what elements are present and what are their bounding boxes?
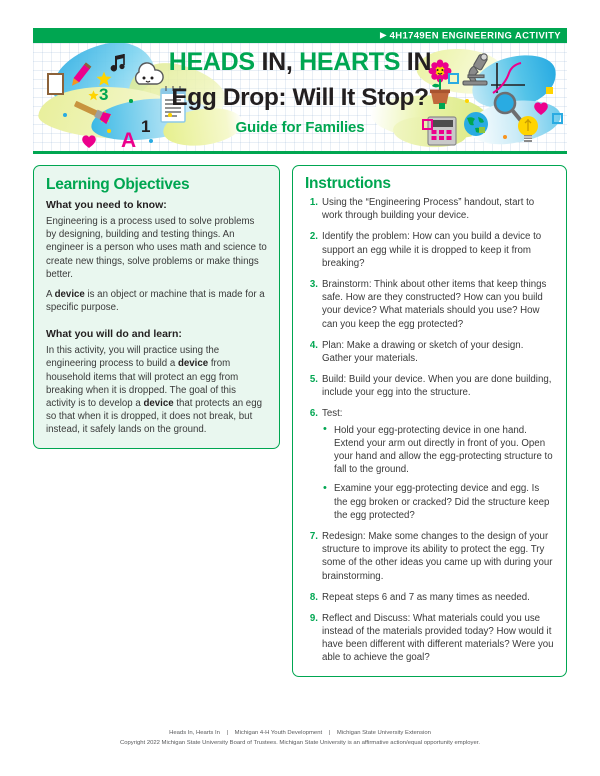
step-text: Build: Build your device. When you are d… xyxy=(322,374,551,398)
instruction-step: 7. Redesign: Make some changes to the de… xyxy=(305,530,555,583)
accent-square xyxy=(546,87,553,94)
pencil-icon xyxy=(64,61,94,91)
accent-dot xyxy=(129,99,133,103)
triangle-right-icon: ▶ xyxy=(380,31,387,39)
instruction-step: 1. Using the “Engineering Process” hando… xyxy=(305,196,555,222)
bullet-icon: • xyxy=(323,423,327,436)
step-number: 4. xyxy=(305,339,318,352)
step-number: 6. xyxy=(305,407,318,420)
instruction-step: 8. Repeat steps 6 and 7 as many times as… xyxy=(305,591,555,604)
step-text: Reflect and Discuss: What materials coul… xyxy=(322,613,554,664)
number-3-icon: 3 xyxy=(97,83,113,105)
document-code-text: 4H1749EN ENGINEERING ACTIVITY xyxy=(390,30,561,41)
step-number: 9. xyxy=(305,612,318,625)
lightbulb-icon xyxy=(515,113,541,147)
step-text: Plan: Make a drawing or sketch of your d… xyxy=(322,340,523,364)
document-code-bar: ▶4H1749EN ENGINEERING ACTIVITY xyxy=(33,28,567,43)
instruction-step: 9. Reflect and Discuss: What materials c… xyxy=(305,612,555,665)
need-to-know-paragraph-1: Engineering is a process used to solve p… xyxy=(46,215,267,281)
step-text: Brainstorm: Think about other items that… xyxy=(322,279,546,330)
footer-attribution-line: Heads In, Hearts In | Michigan 4-H Youth… xyxy=(0,728,600,738)
step-text: Test: xyxy=(322,408,342,419)
instructions-heading: Instructions xyxy=(305,175,555,192)
header-banner: 3 1 A xyxy=(33,43,567,151)
notepad-icon xyxy=(157,84,189,126)
device-term: device xyxy=(55,289,85,300)
page-footer: Heads In, Hearts In | Michigan 4-H Youth… xyxy=(0,728,600,749)
footer-separator: | xyxy=(324,730,336,736)
step-text: Identify the problem: How can you build … xyxy=(322,231,541,268)
device-term: device xyxy=(178,358,208,369)
svg-text:3: 3 xyxy=(99,85,108,104)
step-number: 1. xyxy=(305,196,318,209)
instruction-step: 5. Build: Build your device. When you ar… xyxy=(305,373,555,399)
footer-program-name: Heads In, Hearts In xyxy=(169,730,220,736)
device-term: device xyxy=(143,398,173,409)
learning-objectives-panel: Learning Objectives What you need to kno… xyxy=(33,165,280,449)
number-1-icon: 1 xyxy=(139,115,153,137)
document-page: ▶4H1749EN ENGINEERING ACTIVITY xyxy=(0,0,600,776)
accent-dot xyxy=(168,113,172,117)
heart-icon xyxy=(81,134,97,149)
letter-a-icon: A xyxy=(119,127,141,151)
step-bullet-text: Hold your egg-protecting device in one h… xyxy=(334,425,553,476)
instructions-panel: Instructions 1. Using the “Engineering P… xyxy=(292,165,567,677)
accent-square xyxy=(552,113,563,124)
svg-text:1: 1 xyxy=(141,117,150,136)
accent-dot xyxy=(465,99,469,103)
footer-extension-name: Michigan State University Extension xyxy=(337,730,431,736)
accent-dot xyxy=(149,139,153,143)
step-bullet-text: Examine your egg-protecting device and e… xyxy=(334,483,549,520)
accent-dot xyxy=(503,135,507,139)
header-divider-rule xyxy=(33,151,567,154)
step-bullet: • Examine your egg-protecting device and… xyxy=(322,482,555,522)
step-number: 3. xyxy=(305,278,318,291)
what-you-need-to-know-heading: What you need to know: xyxy=(46,199,267,212)
accent-dot xyxy=(63,113,67,117)
accent-square xyxy=(422,119,433,130)
step-number: 2. xyxy=(305,230,318,243)
step-number: 5. xyxy=(305,373,318,386)
need-to-know-paragraph-2: A device is an object or machine that is… xyxy=(46,288,267,314)
instruction-steps-list: 1. Using the “Engineering Process” hando… xyxy=(305,196,555,665)
svg-text:A: A xyxy=(121,129,136,151)
step-text: Using the “Engineering Process” handout,… xyxy=(322,197,534,221)
will-do-paragraph-1: In this activity, you will practice usin… xyxy=(46,344,267,436)
step-6-sublist: • Hold your egg-protecting device in one… xyxy=(322,424,555,522)
accent-square xyxy=(448,73,459,84)
step-number: 7. xyxy=(305,530,318,543)
step-text: Repeat steps 6 and 7 as many times as ne… xyxy=(322,592,530,603)
document-code-label: ▶4H1749EN ENGINEERING ACTIVITY xyxy=(380,31,561,41)
accent-dot xyxy=(107,129,111,133)
globe-icon xyxy=(461,109,491,139)
learning-objectives-heading: Learning Objectives xyxy=(46,176,267,193)
instruction-step: 2. Identify the problem: How can you bui… xyxy=(305,230,555,270)
footer-org-name: Michigan 4-H Youth Development xyxy=(235,730,322,736)
what-you-will-do-heading: What you will do and learn: xyxy=(46,328,267,341)
bullet-icon: • xyxy=(323,482,327,495)
accent-square xyxy=(479,127,485,133)
footer-separator: | xyxy=(222,730,234,736)
step-text: Redesign: Make some changes to the desig… xyxy=(322,531,552,582)
instruction-step: 6. Test: • Hold your egg-protecting devi… xyxy=(305,407,555,522)
instruction-step: 4. Plan: Make a drawing or sketch of you… xyxy=(305,339,555,365)
step-number: 8. xyxy=(305,591,318,604)
step-bullet: • Hold your egg-protecting device in one… xyxy=(322,424,555,477)
footer-copyright-line: Copyright 2022 Michigan State University… xyxy=(0,738,600,748)
accent-square xyxy=(439,103,445,109)
instruction-step: 3. Brainstorm: Think about other items t… xyxy=(305,278,555,331)
